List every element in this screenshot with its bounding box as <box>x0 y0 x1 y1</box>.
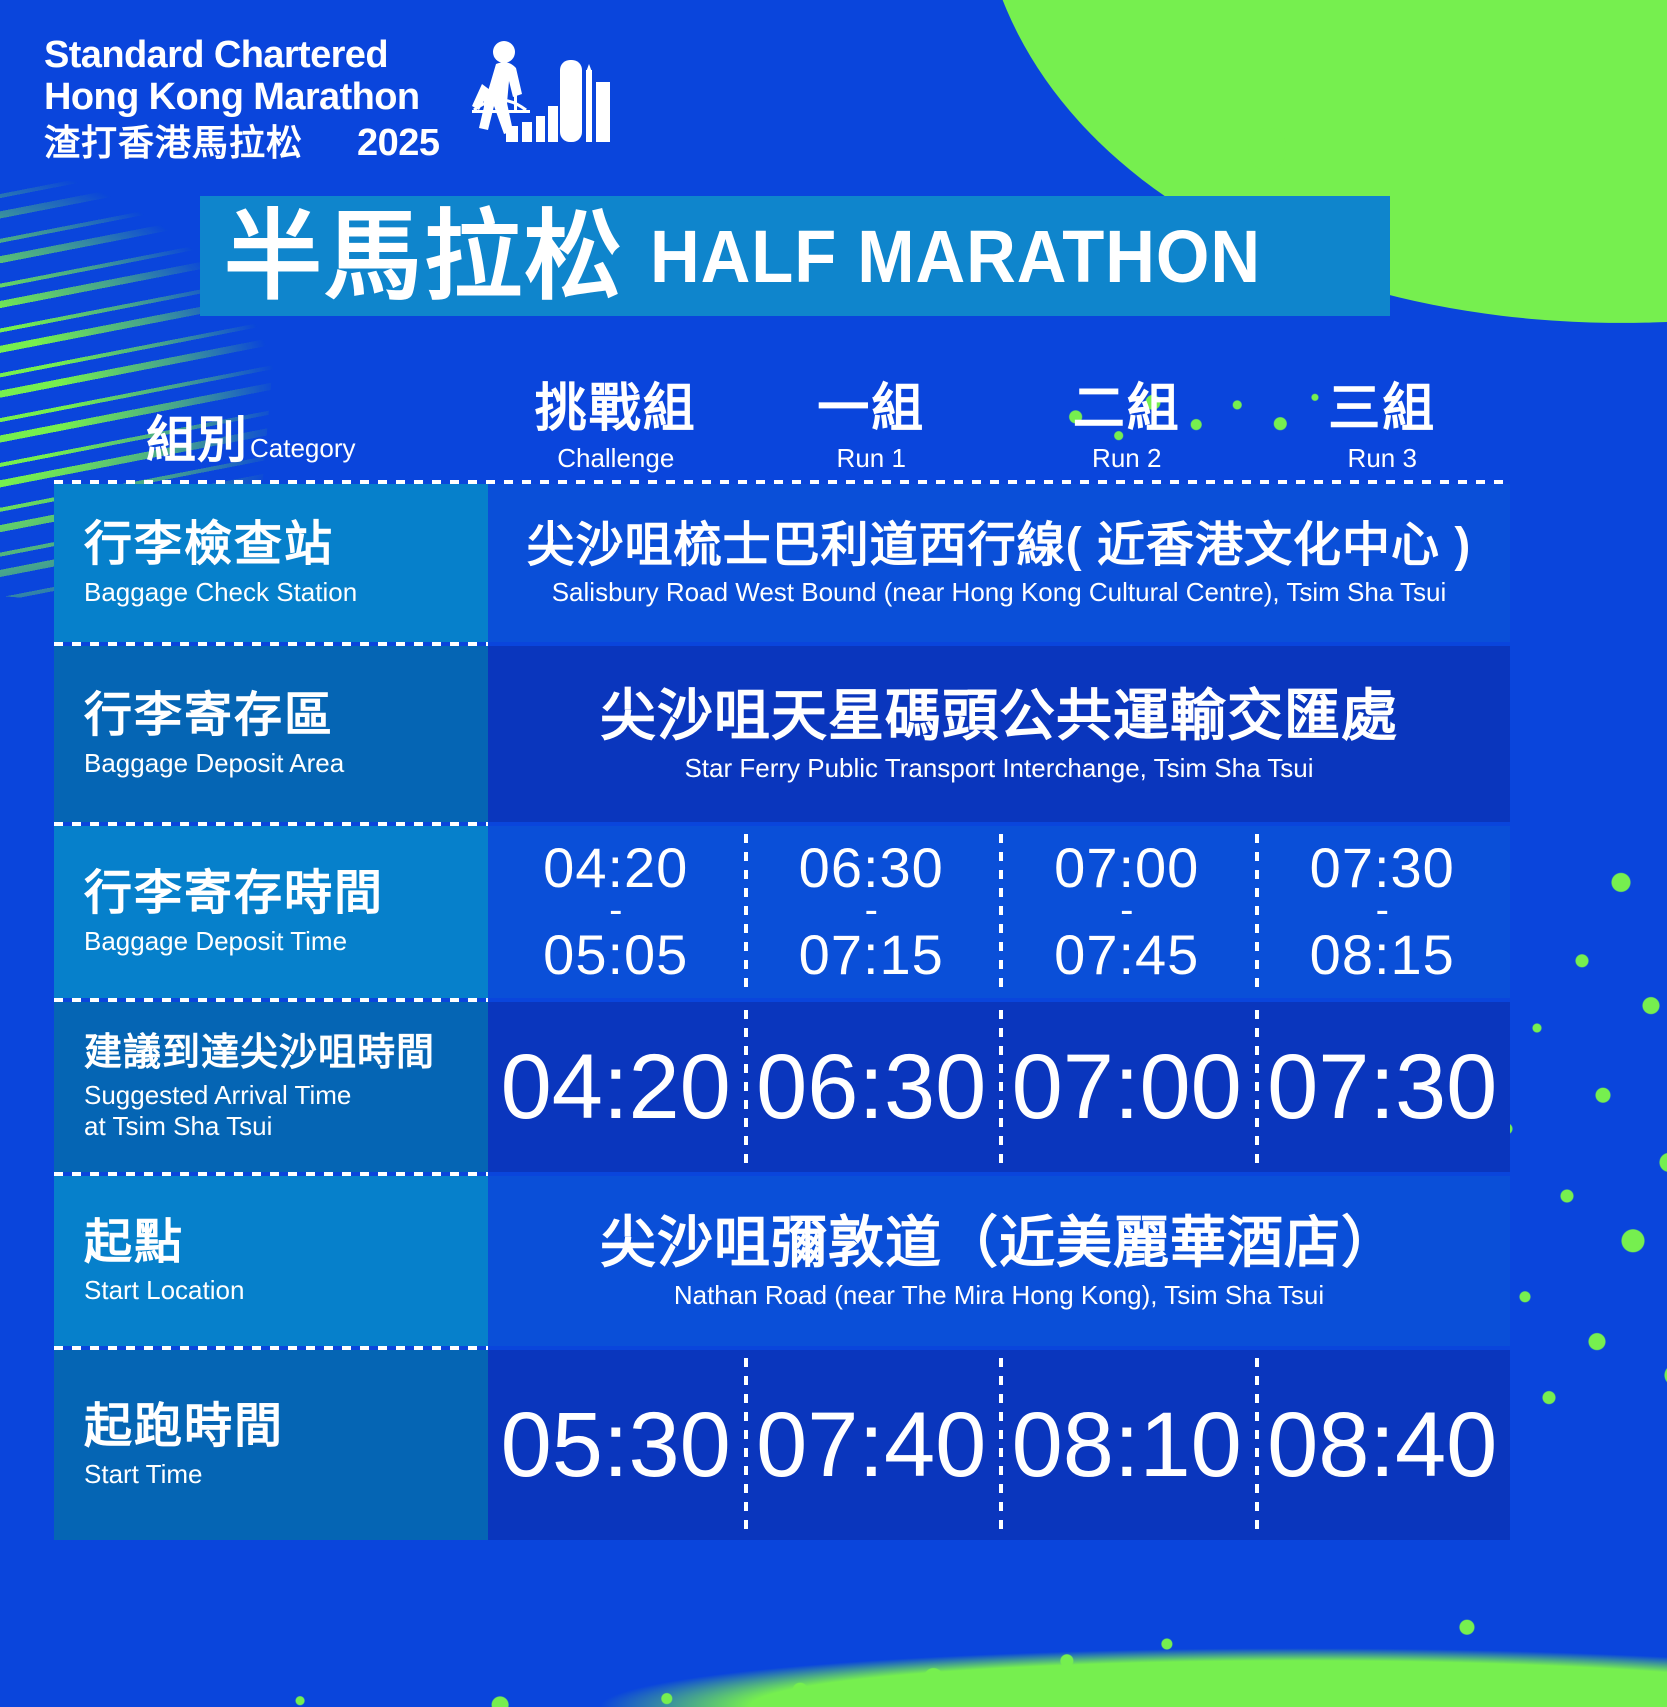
cell-run3: 08:40 <box>1255 1350 1511 1540</box>
header-group-en: Run 3 <box>1255 443 1511 474</box>
cell-challenge: 04:20 - 05:05 <box>488 826 744 998</box>
time-to: 07:15 <box>799 924 944 987</box>
logo-line-3: 渣打香港馬拉松 2025 <box>44 124 440 162</box>
row-value-zh: 尖沙咀天星碼頭公共運輸交匯處 <box>600 684 1398 748</box>
header-category-en: Category <box>250 433 356 464</box>
cell-run2: 08:10 <box>999 1350 1255 1540</box>
row-value-zh: 尖沙咀彌敦道（近美麗華酒店） <box>600 1211 1398 1275</box>
header-group-zh: 一組 <box>744 382 1000 437</box>
row-category-zh: 行李檢查站 <box>84 518 488 572</box>
header-group-zh: 挑戰組 <box>488 382 744 437</box>
time-to: 05:05 <box>543 924 688 987</box>
logo-chinese-name: 渣打香港馬拉松 <box>44 125 303 161</box>
row-category-zh: 行李寄存時間 <box>84 867 488 921</box>
time-dash: - <box>609 902 622 918</box>
table-header-row: 組別 Category 挑戰組 Challenge 一組 Run 1 二組 Ru… <box>54 352 1510 480</box>
table-row: 行李檢查站 Baggage Check Station 尖沙咀梳士巴利道西行線(… <box>54 484 1510 642</box>
header-group-run1: 一組 Run 1 <box>744 382 1000 480</box>
cell-challenge: 05:30 <box>488 1350 744 1540</box>
cell-run3: 07:30 <box>1255 1002 1511 1172</box>
header-category: 組別 Category <box>54 400 488 480</box>
row-category-zh: 起跑時間 <box>84 1400 488 1454</box>
row-value-en: Star Ferry Public Transport Interchange,… <box>684 753 1313 784</box>
table-row: 建議到達尖沙咀時間 Suggested Arrival Time at Tsim… <box>54 1002 1510 1172</box>
row-value-zh: 尖沙咀梳士巴利道西行線( 近香港文化中心 ) <box>527 518 1472 573</box>
runner-skyline-icon <box>456 36 616 161</box>
row-category: 行李寄存時間 Baggage Deposit Time <box>54 826 488 998</box>
header-group-en: Challenge <box>488 443 744 474</box>
page-title-english: HALF MARATHON <box>650 214 1261 299</box>
time-dash: - <box>1376 902 1389 918</box>
table-row: 行李寄存區 Baggage Deposit Area 尖沙咀天星碼頭公共運輸交匯… <box>54 646 1510 822</box>
table-row: 起跑時間 Start Time 05:30 07:40 08:10 08:40 <box>54 1350 1510 1540</box>
row-category-en: Start Location <box>84 1275 488 1306</box>
cell-run2: 07:00 - 07:45 <box>999 826 1255 998</box>
row-values: 05:30 07:40 08:10 08:40 <box>488 1350 1510 1540</box>
logo-line-2: Hong Kong Marathon <box>44 78 440 116</box>
header-group-challenge: 挑戰組 Challenge <box>488 382 744 480</box>
row-values: 04:20 - 05:05 06:30 - 07:15 07:00 - 07:4… <box>488 826 1510 998</box>
logo-wordmark: Standard Chartered Hong Kong Marathon 渣打… <box>44 36 440 162</box>
header-group-en: Run 2 <box>999 443 1255 474</box>
time-value: 06:30 <box>756 1041 986 1133</box>
time-value: 07:00 <box>1012 1041 1242 1133</box>
page-title-chinese: 半馬拉松 <box>224 207 624 305</box>
header-group-run3: 三組 Run 3 <box>1255 382 1511 480</box>
cell-run1: 06:30 - 07:15 <box>744 826 1000 998</box>
row-values: 04:20 06:30 07:00 07:30 <box>488 1002 1510 1172</box>
table-row: 行李寄存時間 Baggage Deposit Time 04:20 - 05:0… <box>54 826 1510 998</box>
row-category: 行李寄存區 Baggage Deposit Area <box>54 646 488 822</box>
event-logo: Standard Chartered Hong Kong Marathon 渣打… <box>44 36 616 162</box>
row-category-en: Baggage Check Station <box>84 577 488 608</box>
time-value: 07:40 <box>756 1399 986 1491</box>
schedule-table: 組別 Category 挑戰組 Challenge 一組 Run 1 二組 Ru… <box>54 352 1510 1540</box>
time-value: 08:40 <box>1267 1399 1497 1491</box>
header-group-run2: 二組 Run 2 <box>999 382 1255 480</box>
cell-run1: 06:30 <box>744 1002 1000 1172</box>
row-category: 起點 Start Location <box>54 1176 488 1346</box>
time-value: 04:20 <box>501 1041 731 1133</box>
cell-challenge: 04:20 <box>488 1002 744 1172</box>
row-category-en: Baggage Deposit Area <box>84 748 488 779</box>
time-value: 08:10 <box>1012 1399 1242 1491</box>
row-category: 行李檢查站 Baggage Check Station <box>54 484 488 642</box>
time-value: 07:30 <box>1267 1041 1497 1133</box>
logo-line-1: Standard Chartered <box>44 36 440 74</box>
header-group-zh: 三組 <box>1255 382 1511 437</box>
time-value: 05:30 <box>501 1399 731 1491</box>
cell-run3: 07:30 - 08:15 <box>1255 826 1511 998</box>
time-to: 07:45 <box>1054 924 1199 987</box>
row-category-zh: 起點 <box>84 1216 488 1270</box>
header-category-zh: 組別 <box>146 400 248 472</box>
logo-year: 2025 <box>357 124 440 162</box>
row-value-en: Nathan Road (near The Mira Hong Kong), T… <box>674 1280 1324 1311</box>
row-category-en: Suggested Arrival Time at Tsim Sha Tsui <box>84 1080 488 1142</box>
row-category-zh: 行李寄存區 <box>84 689 488 743</box>
green-dot-top-a <box>1090 108 1116 138</box>
row-value-en: Salisbury Road West Bound (near Hong Kon… <box>552 577 1447 608</box>
row-category-en: Start Time <box>84 1459 488 1490</box>
cell-run1: 07:40 <box>744 1350 1000 1540</box>
row-category-en: Baggage Deposit Time <box>84 926 488 957</box>
green-dot-top-b <box>1248 128 1286 170</box>
table-row: 起點 Start Location 尖沙咀彌敦道（近美麗華酒店） Nathan … <box>54 1176 1510 1346</box>
header-group-zh: 二組 <box>999 382 1255 437</box>
time-dash: - <box>865 902 878 918</box>
page-title-banner: 半馬拉松 HALF MARATHON <box>200 196 1390 316</box>
header-group-en: Run 1 <box>744 443 1000 474</box>
time-to: 08:15 <box>1310 924 1455 987</box>
row-category-zh: 建議到達尖沙咀時間 <box>84 1032 488 1075</box>
row-category: 起跑時間 Start Time <box>54 1350 488 1540</box>
cell-run2: 07:00 <box>999 1002 1255 1172</box>
row-value: 尖沙咀彌敦道（近美麗華酒店） Nathan Road (near The Mir… <box>488 1176 1510 1346</box>
row-value: 尖沙咀天星碼頭公共運輸交匯處 Star Ferry Public Transpo… <box>488 646 1510 822</box>
time-dash: - <box>1120 902 1133 918</box>
row-value: 尖沙咀梳士巴利道西行線( 近香港文化中心 ) Salisbury Road We… <box>488 484 1510 642</box>
row-category: 建議到達尖沙咀時間 Suggested Arrival Time at Tsim… <box>54 1002 488 1172</box>
